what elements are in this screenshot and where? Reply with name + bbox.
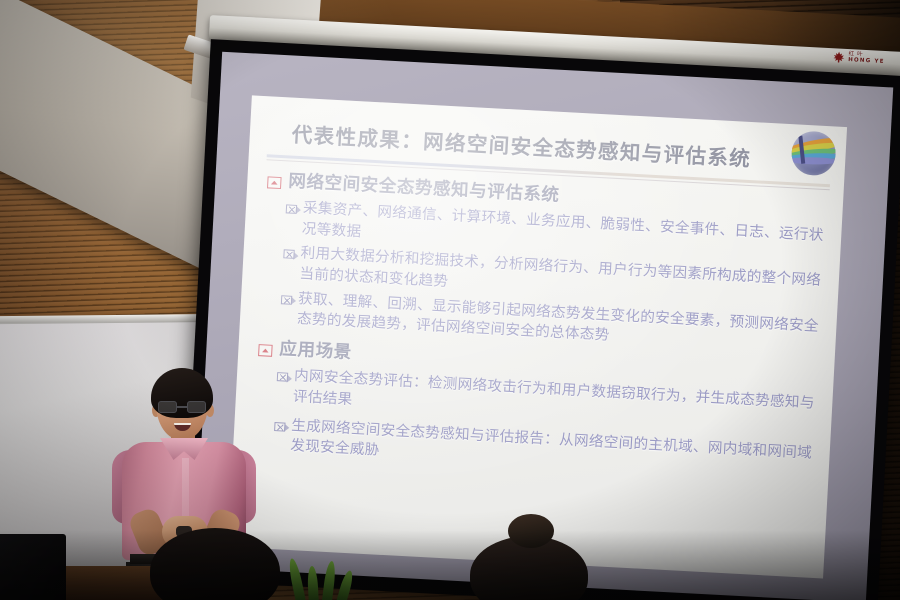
brand-label-en: HONG YE — [848, 58, 885, 65]
audience-hair-bun — [508, 514, 554, 548]
box-arrow-icon — [281, 295, 292, 305]
slide-section: 应用场景 内网安全态势评估：检测网络攻击行为和用户数据窃取行为，并生成态势感知与… — [251, 338, 818, 484]
box-arrow-icon — [277, 372, 288, 382]
section-bullets: 采集资产、网络通信、计算环境、业务应用、脆弱性、安全事件、日志、运行状况等数据 … — [280, 197, 826, 358]
potted-plant — [286, 556, 376, 600]
slide-section: 网络空间安全态势感知与评估系统 采集资产、网络通信、计算环境、业务应用、脆弱性、… — [258, 170, 828, 358]
box-arrow-icon — [283, 250, 294, 260]
chevron-box-icon — [258, 344, 273, 357]
chevron-box-icon — [267, 176, 282, 189]
slide-content: 网络空间安全态势感知与评估系统 采集资产、网络通信、计算环境、业务应用、脆弱性、… — [246, 170, 827, 569]
projection-screen-assembly: 红叶 HONG YE 代表性成果：网络空间安全态势感知与评估系统 — [199, 18, 900, 600]
dark-monitor — [0, 534, 66, 600]
box-arrow-icon — [274, 422, 285, 432]
projector-brand-logo: 红叶 HONG YE — [833, 51, 885, 65]
box-arrow-icon — [286, 204, 297, 214]
presentation-slide: 代表性成果：网络空间安全态势感知与评估系统 — [228, 95, 847, 578]
lecture-room-scene: 红叶 HONG YE 代表性成果：网络空间安全态势感知与评估系统 — [0, 0, 900, 600]
section-heading: 应用场景 — [279, 339, 352, 365]
maple-leaf-icon — [833, 51, 845, 63]
glasses-icon — [157, 401, 207, 414]
